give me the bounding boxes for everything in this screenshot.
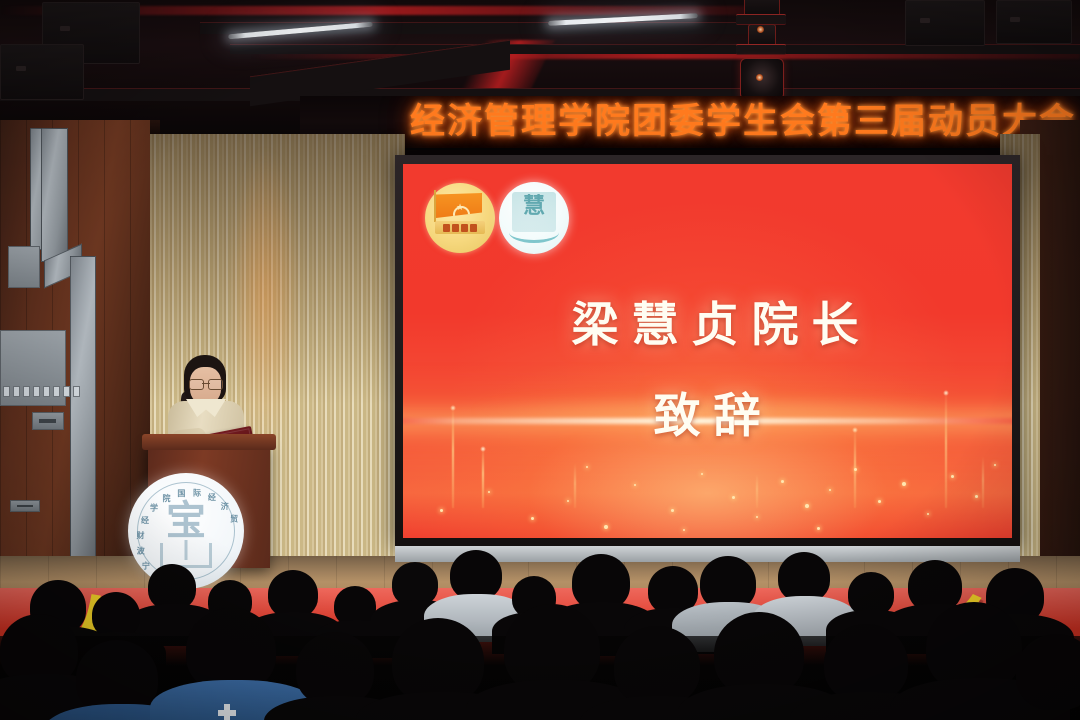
- led-banner-text: 经济管理学院团委学生会第三届动员大会: [410, 105, 1080, 140]
- photograph-scene: 经济管理学院团委学生会第三届动员大会: [0, 0, 1080, 720]
- flag-icon: [436, 193, 482, 218]
- wall-outlet-plate: [32, 412, 64, 430]
- projection-screen-frame: 慧 梁慧贞院长 致辞: [395, 155, 1020, 550]
- ribbon-icon: [435, 221, 485, 234]
- seal-center-glyph: 宝: [128, 501, 244, 541]
- panel-switch-row: [3, 386, 80, 397]
- audience-head: [296, 632, 374, 706]
- ceiling-speaker-box: [0, 44, 84, 100]
- projection-screen-display: 慧 梁慧贞院长 致辞: [403, 164, 1012, 538]
- audience-head: [778, 552, 830, 602]
- moving-head-stage-light: [730, 0, 794, 100]
- ceiling-speaker-box: [996, 0, 1072, 44]
- screen-title-line-1: 梁慧贞院长: [417, 286, 1012, 355]
- audience-head: [1016, 634, 1080, 710]
- university-seal-emblem: 慧: [499, 182, 569, 254]
- screen-emblem-group: 慧: [425, 182, 569, 254]
- seal-arc-icon: [509, 222, 559, 243]
- flag-pole-icon: [434, 190, 436, 222]
- electrical-panel: [8, 246, 40, 288]
- jacket-cross-logo-icon: [218, 704, 236, 720]
- audience-head: [614, 626, 700, 706]
- audience-head: [450, 550, 502, 600]
- seated-audience-front-row: [0, 600, 1080, 720]
- hvac-duct: [70, 256, 96, 570]
- communist-youth-league-emblem: [425, 183, 495, 253]
- lectern-top-surface: [142, 434, 276, 450]
- audience-head: [824, 624, 908, 702]
- wall-outlet-plate: [10, 500, 40, 512]
- screen-title-line-2: 致辞: [409, 377, 1012, 446]
- led-scrolling-sign: 经济管理学院团委学生会第三届动员大会: [300, 96, 1080, 148]
- ceiling-speaker-box: [905, 0, 985, 46]
- seal-glyph-icon: 慧: [523, 196, 545, 218]
- hvac-duct: [41, 128, 68, 262]
- screen-title-block: 梁慧贞院长 致辞: [403, 286, 1012, 446]
- eyeglasses-icon: [189, 379, 223, 388]
